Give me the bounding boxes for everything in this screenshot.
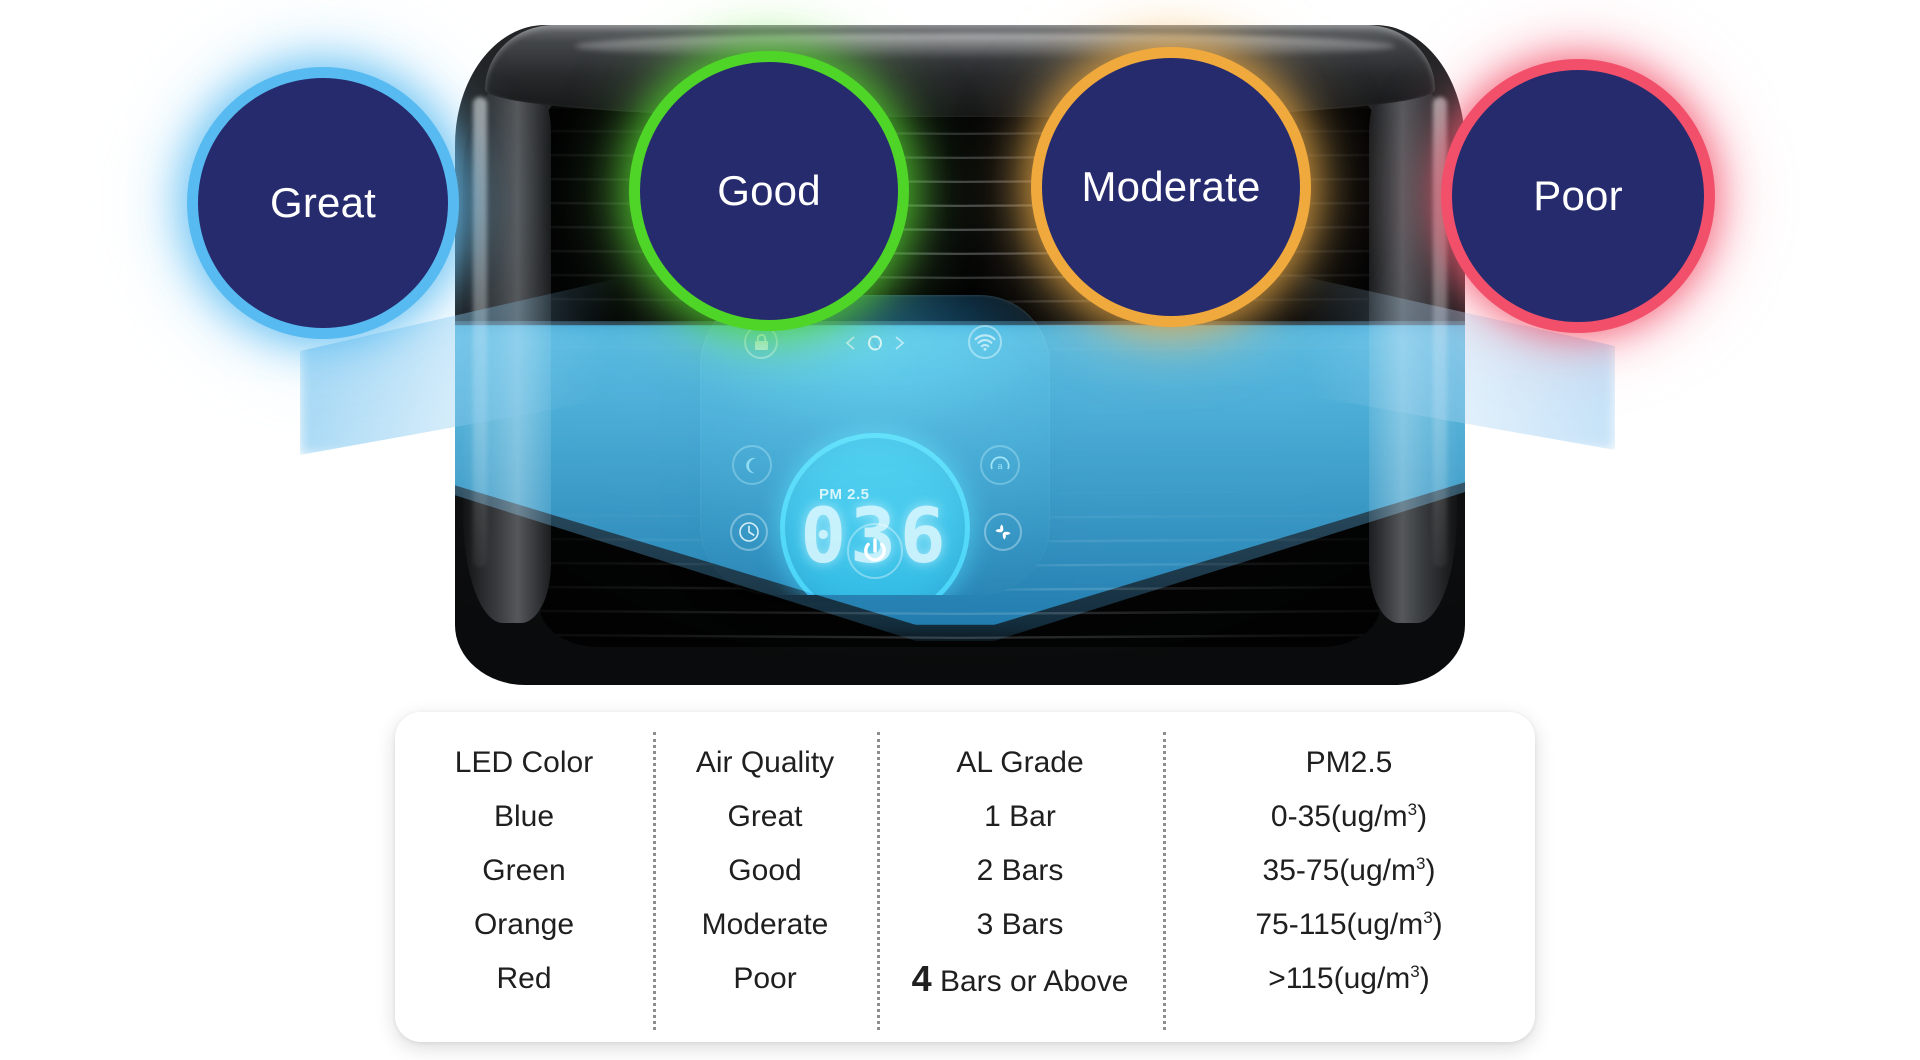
table-row: OrangeModerate3 Bars75-115(ug/m3) <box>395 898 1535 952</box>
status-bubble-poor[interactable]: Poor <box>1452 70 1704 322</box>
cell-led-color: Red <box>395 962 653 996</box>
al-grade-number: 3 <box>977 908 994 941</box>
device-shell: a PM 2.5 036 <box>455 25 1465 685</box>
pm25-exponent: 3 <box>1408 800 1417 819</box>
cell-air-quality: Poor <box>653 962 877 996</box>
cell-pm25-range: 75-115(ug/m3) <box>1163 908 1535 942</box>
column-header-al-grade: AL Grade <box>877 746 1163 780</box>
table-header-row: LED Color Air Quality AL Grade PM2.5 <box>395 736 1535 790</box>
status-bubble-great[interactable]: Great <box>198 78 448 328</box>
cell-al-grade: 1 Bar <box>877 800 1163 834</box>
cell-al-grade: 4 Bars or Above <box>877 958 1163 1000</box>
al-grade-number: 2 <box>977 854 994 887</box>
cell-al-grade: 2 Bars <box>877 854 1163 888</box>
status-bubble-label: Good <box>717 167 821 215</box>
cell-led-color: Green <box>395 854 653 888</box>
table-row: BlueGreat1 Bar0-35(ug/m3) <box>395 790 1535 844</box>
cell-air-quality: Moderate <box>653 908 877 942</box>
cell-led-color: Blue <box>395 800 653 834</box>
pm25-exponent: 3 <box>1416 854 1425 873</box>
table-row: GreenGood2 Bars35-75(ug/m3) <box>395 844 1535 898</box>
infographic-canvas: a PM 2.5 036 <box>0 0 1920 1060</box>
cell-al-grade: 3 Bars <box>877 908 1163 942</box>
status-bubble-label: Poor <box>1533 172 1623 220</box>
cell-pm25-range: 35-75(ug/m3) <box>1163 854 1535 888</box>
status-bubble-label: Great <box>270 179 376 227</box>
air-purifier-device: a PM 2.5 036 <box>455 25 1465 685</box>
column-header-pm25: PM2.5 <box>1163 746 1535 780</box>
air-quality-legend-table: LED Color Air Quality AL Grade PM2.5 Blu… <box>395 712 1535 1042</box>
cell-led-color: Orange <box>395 908 653 942</box>
cell-pm25-range: 0-35(ug/m3) <box>1163 800 1535 834</box>
cell-pm25-range: >115(ug/m3) <box>1163 962 1535 996</box>
cell-air-quality: Good <box>653 854 877 888</box>
pm25-exponent: 3 <box>1423 908 1432 927</box>
al-grade-number: 1 <box>984 800 1001 833</box>
cell-air-quality: Great <box>653 800 877 834</box>
status-bubble-moderate[interactable]: Moderate <box>1042 58 1300 316</box>
status-bubble-good[interactable]: Good <box>640 62 898 320</box>
column-header-air-quality: Air Quality <box>653 746 877 780</box>
al-grade-number: 4 <box>912 958 932 999</box>
pm25-exponent: 3 <box>1410 962 1419 981</box>
status-bubble-label: Moderate <box>1081 163 1260 211</box>
column-header-led-color: LED Color <box>395 746 653 780</box>
table-row: RedPoor4 Bars or Above>115(ug/m3) <box>395 952 1535 1006</box>
device-top-lid <box>485 25 1435 117</box>
